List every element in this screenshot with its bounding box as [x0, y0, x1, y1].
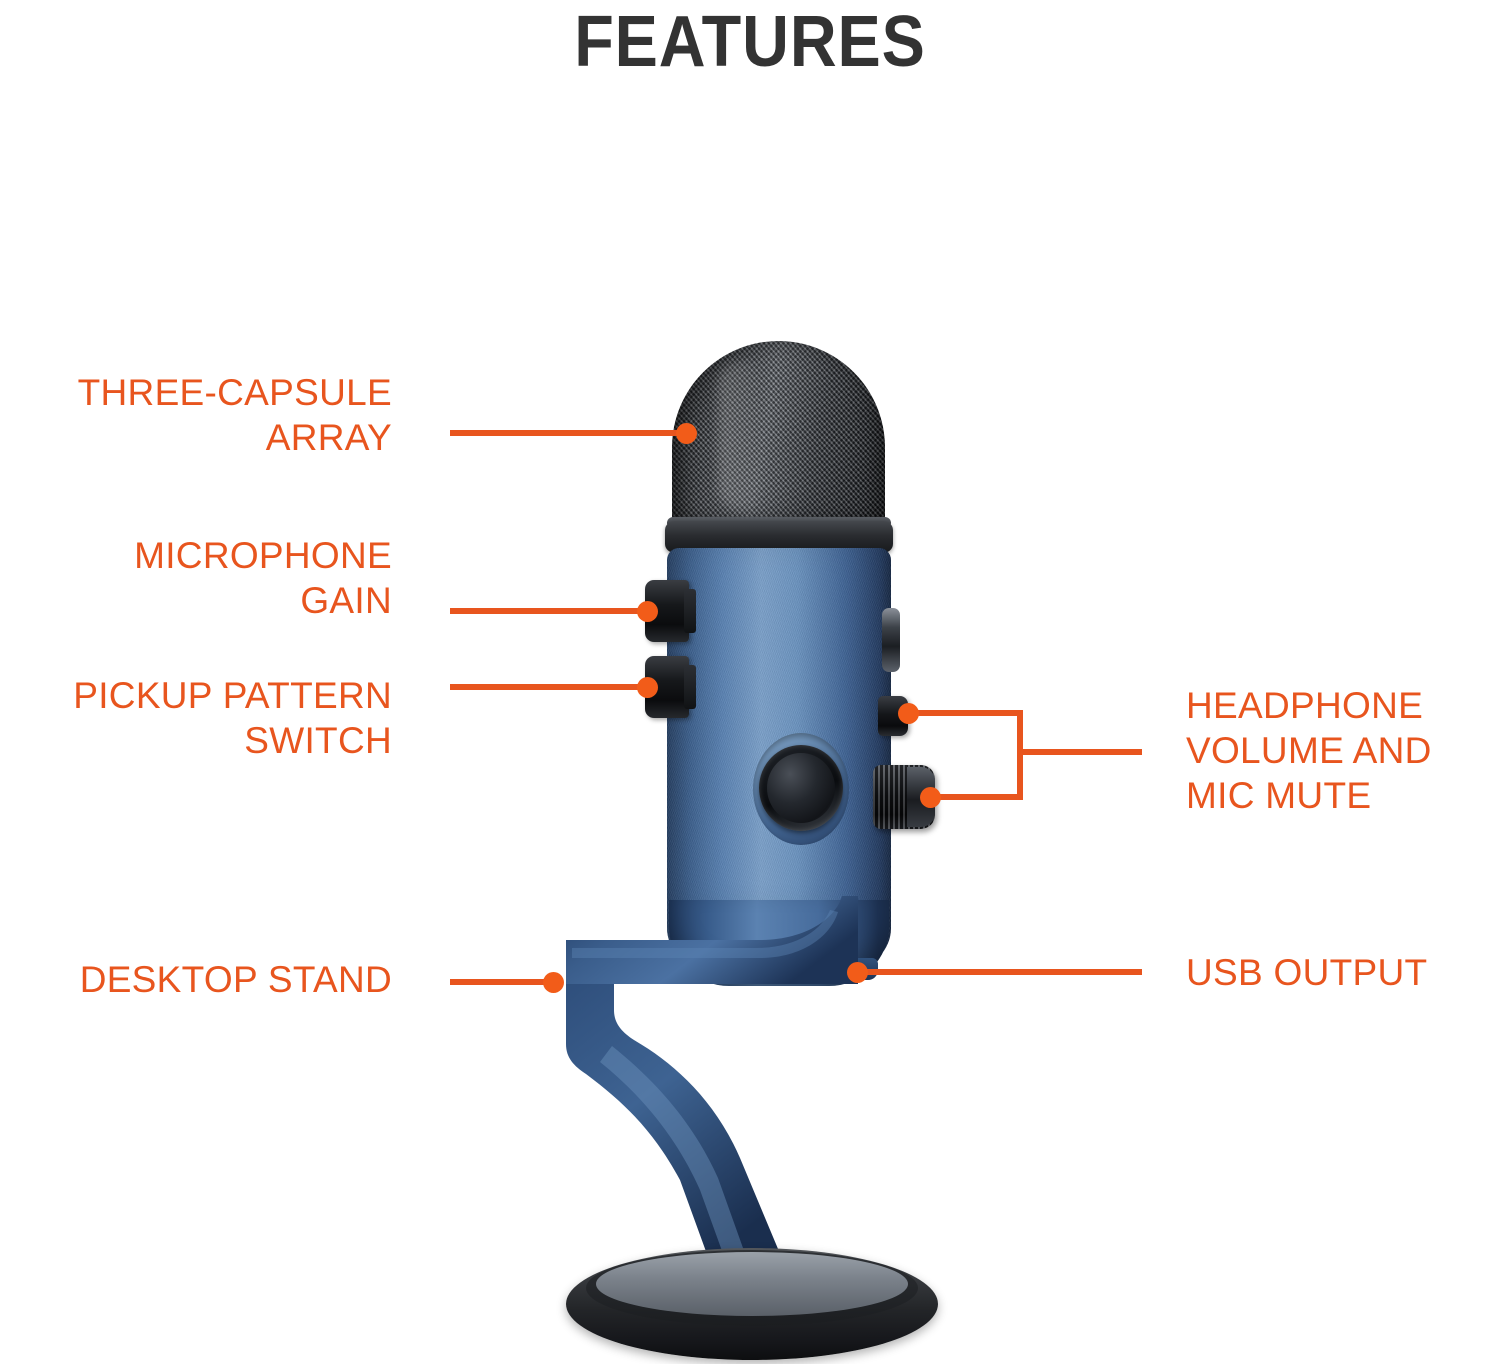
callout-dot-mic-mute	[898, 703, 919, 724]
callout-dot-desktop-stand	[543, 972, 564, 993]
callout-label-desktop-stand: DESKTOP STAND	[0, 957, 392, 1002]
callout-dot-pickup-pattern-switch	[637, 677, 658, 698]
callout-dot-three-capsule-array	[676, 423, 697, 444]
leader-line-mic-mute-branch	[908, 710, 1023, 716]
stand-base-top-surface	[596, 1252, 908, 1316]
callout-label-pickup-pattern-switch: PICKUP PATTERN SWITCH	[0, 673, 392, 763]
callout-label-microphone-gain: MICROPHONE GAIN	[0, 533, 392, 623]
leader-line-microphone-gain	[450, 608, 652, 614]
callout-dot-microphone-gain	[637, 601, 658, 622]
callout-label-three-capsule-array: THREE-CAPSULE ARRAY	[0, 370, 392, 460]
leader-line-usb-output	[862, 969, 1142, 975]
callout-label-headphone-volume-and-mic-mute: HEADPHONE VOLUME AND MIC MUTE	[1186, 683, 1500, 818]
callout-dot-headphone-volume	[920, 787, 941, 808]
leader-bracket-vertical	[1017, 710, 1023, 800]
leader-line-headphone-mute-stem	[1017, 749, 1142, 755]
features-diagram: FEATURES	[0, 0, 1500, 1364]
callout-label-usb-output: USB OUTPUT	[1186, 950, 1500, 995]
leader-line-headphone-volume-branch	[930, 794, 1023, 800]
callout-dot-usb-output	[847, 962, 868, 983]
leader-line-three-capsule-array	[450, 430, 690, 436]
leader-line-pickup-pattern-switch	[450, 684, 652, 690]
